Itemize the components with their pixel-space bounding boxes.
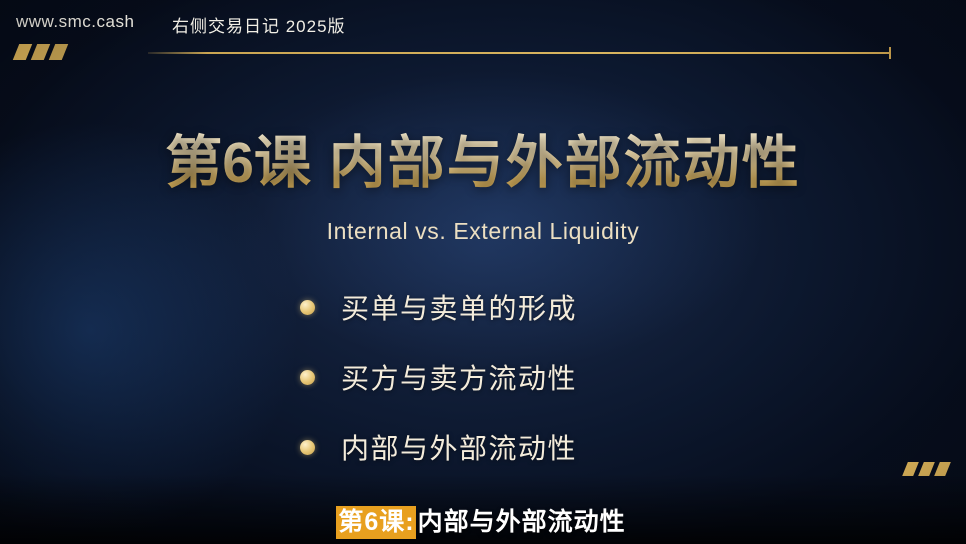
bullet-dot-icon	[300, 300, 315, 315]
subtitle-caption-bar: 第6课:内部与外部流动性	[0, 502, 966, 538]
header-divider	[148, 52, 890, 54]
slash-decor-bottom-icon	[905, 462, 948, 476]
list-item: 买方与卖方流动性	[300, 342, 820, 412]
page-title: 第6课 内部与外部流动性	[0, 132, 966, 196]
page-title-lesson-number: 第6课	[165, 131, 311, 195]
course-series-label: 右侧交易日记 2025版	[172, 12, 346, 37]
site-url-label: www.smc.cash	[16, 12, 134, 32]
decorative-arc-2	[0, 12, 299, 544]
caption-rest: 内部与外部流动性	[416, 506, 630, 539]
bullet-dot-icon	[300, 440, 315, 455]
caption-highlight: 第6课:	[336, 506, 415, 539]
bullet-list: 买单与卖单的形成 买方与卖方流动性 内部与外部流动性	[300, 272, 820, 482]
list-item: 内部与外部流动性	[300, 412, 820, 482]
bullet-dot-icon	[300, 370, 315, 385]
list-item-label: 买方与卖方流动性	[341, 357, 577, 397]
slide-canvas: www.smc.cash 右侧交易日记 2025版 第6课 内部与外部流动性 I…	[0, 0, 966, 544]
page-title-main: 内部与外部流动性	[329, 131, 801, 195]
slash-decor-icon	[16, 44, 65, 60]
top-bar: www.smc.cash 右侧交易日记 2025版	[0, 0, 966, 72]
subtitle-caption: 第6课:内部与外部流动性	[336, 502, 629, 538]
decorative-arc-1	[0, 0, 334, 544]
list-item: 买单与卖单的形成	[300, 272, 820, 342]
list-item-label: 买单与卖单的形成	[341, 287, 577, 327]
list-item-label: 内部与外部流动性	[341, 427, 577, 467]
page-subtitle-english: Internal vs. External Liquidity	[0, 218, 966, 245]
